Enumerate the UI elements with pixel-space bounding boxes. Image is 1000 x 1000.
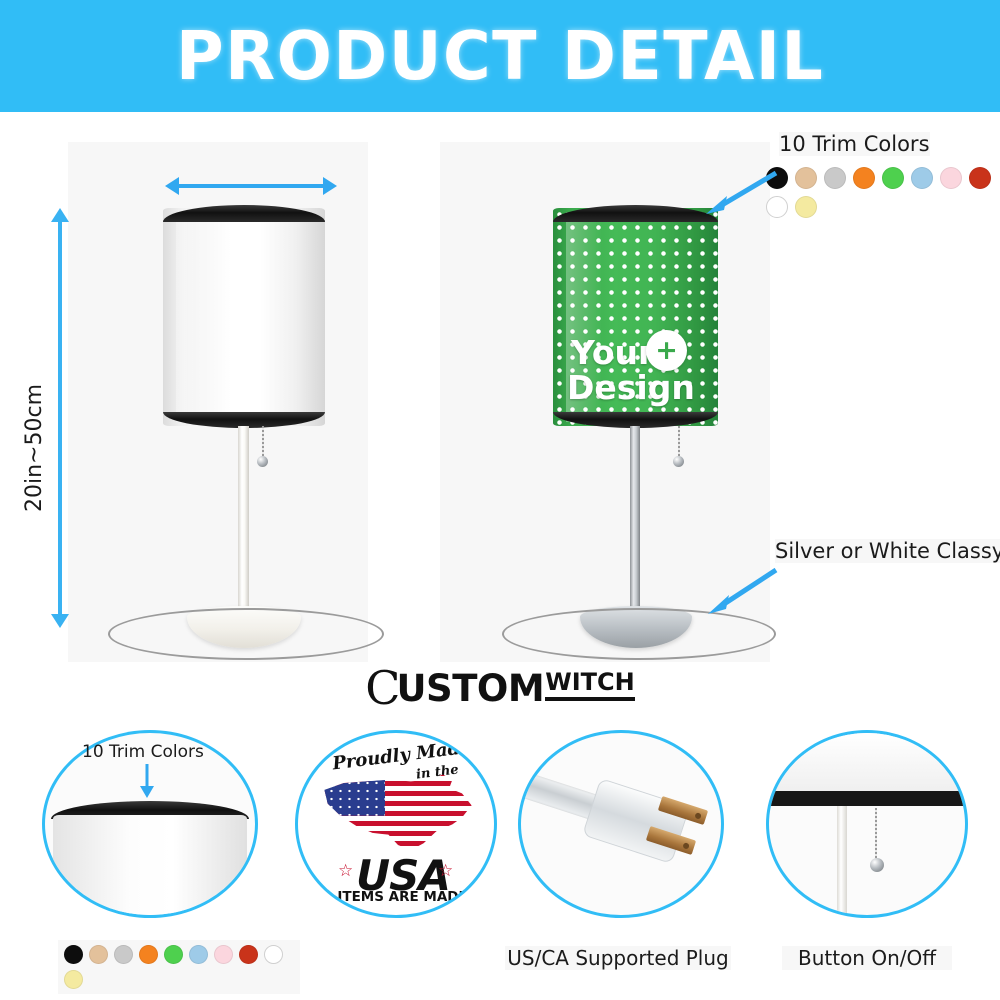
pull-chain-bead-white xyxy=(257,456,268,467)
plug-prong-hole xyxy=(694,812,702,820)
trim-colors-down-arrow-icon xyxy=(136,764,158,800)
logo-word-witch: WITCH xyxy=(545,668,634,701)
lamp-shade-white xyxy=(163,208,325,426)
plug-housing xyxy=(582,778,690,864)
trim-swatch-green[interactable] xyxy=(164,945,183,964)
pull-chain-bead-silver xyxy=(673,456,684,467)
trim-colors-detail-shade xyxy=(53,815,247,918)
trim-colors-top-swatches[interactable] xyxy=(766,167,1000,218)
base-finish-label: Silver or White Classy xyxy=(775,539,1000,563)
trim-swatch-pink[interactable] xyxy=(214,945,233,964)
usa-star-left-icon: ☆ xyxy=(338,861,353,881)
page-title: PRODUCT DETAIL xyxy=(176,17,824,95)
trim-swatch-orange[interactable] xyxy=(139,945,158,964)
trim-swatch-yellow[interactable] xyxy=(795,196,817,218)
logo-c-mark: C xyxy=(365,665,400,711)
plug-circle xyxy=(518,730,724,918)
plus-glyph: + xyxy=(655,335,678,366)
usa-star-right-icon: ☆ xyxy=(438,861,453,881)
trim-colors-bottom-swatches[interactable] xyxy=(58,940,300,994)
button-pull-chain-bead xyxy=(870,858,884,872)
button-pull-chain xyxy=(875,808,877,860)
trim-swatch-tan[interactable] xyxy=(795,167,817,189)
width-dimension-line xyxy=(178,184,323,188)
usa-badge-circle: Proudly Made in the ☆ USA ☆ ALL ITEMS AR… xyxy=(295,730,497,918)
trim-colors-top-label: 10 Trim Colors xyxy=(779,132,930,156)
trim-swatch-yellow[interactable] xyxy=(64,970,83,989)
pull-chain-silver xyxy=(678,426,680,458)
usa-map-icon xyxy=(318,771,478,857)
cord-ring-white xyxy=(108,608,384,660)
height-dimension-label: 20in~50cm xyxy=(22,384,47,512)
trim-swatch-tan[interactable] xyxy=(89,945,108,964)
design-text-line1: Your xyxy=(571,336,654,369)
brand-logo: C USTOM WITCH xyxy=(0,662,1000,714)
header-banner: PRODUCT DETAIL xyxy=(0,0,1000,112)
add-design-plus-icon: + xyxy=(646,330,687,371)
button-detail-shade xyxy=(769,733,965,793)
pull-chain-white xyxy=(262,426,264,458)
height-arrow-up-icon xyxy=(51,208,69,222)
plug-prong-hole xyxy=(682,842,690,850)
trim-colors-bottom-label: 10 Trim Colors xyxy=(82,742,204,762)
lamp-pole-silver xyxy=(630,426,640,616)
button-detail-pole xyxy=(837,806,847,916)
trim-swatch-orange[interactable] xyxy=(853,167,875,189)
logo-word-custom: USTOM xyxy=(397,667,545,710)
usa-badge-subtitle: ALL ITEMS ARE MADE TO ORDER! xyxy=(305,889,497,905)
plug-label: US/CA Supported Plug xyxy=(505,946,731,970)
lamp-pole-white xyxy=(238,426,249,616)
trim-swatch-red[interactable] xyxy=(969,167,991,189)
trim-swatch-black[interactable] xyxy=(64,945,83,964)
shade-surface xyxy=(163,208,325,426)
trim-swatch-light-blue[interactable] xyxy=(911,167,933,189)
button-onoff-label: Button On/Off xyxy=(782,946,952,970)
trim-swatch-gray[interactable] xyxy=(114,945,133,964)
usa-flag-stars xyxy=(318,771,385,816)
trim-swatch-gray[interactable] xyxy=(824,167,846,189)
trim-swatch-light-blue[interactable] xyxy=(189,945,208,964)
trim-colors-pointer-arrow-icon xyxy=(700,167,780,217)
trim-swatch-white[interactable] xyxy=(264,945,283,964)
height-arrow-down-icon xyxy=(51,614,69,628)
height-dimension-line xyxy=(58,222,62,614)
trim-swatch-green[interactable] xyxy=(882,167,904,189)
button-detail-trim xyxy=(766,791,968,806)
base-finish-pointer-arrow-icon xyxy=(700,562,780,617)
trim-swatch-pink[interactable] xyxy=(940,167,962,189)
width-arrow-right-icon xyxy=(323,177,337,195)
lamp-shade-green: Your + Design xyxy=(553,208,718,426)
width-arrow-left-icon xyxy=(165,177,179,195)
button-onoff-circle xyxy=(766,730,968,918)
design-text-line2: Design xyxy=(567,371,695,404)
trim-swatch-red[interactable] xyxy=(239,945,258,964)
product-stage: 7in~18cm 20in~50cm Your + Design xyxy=(0,112,1000,662)
